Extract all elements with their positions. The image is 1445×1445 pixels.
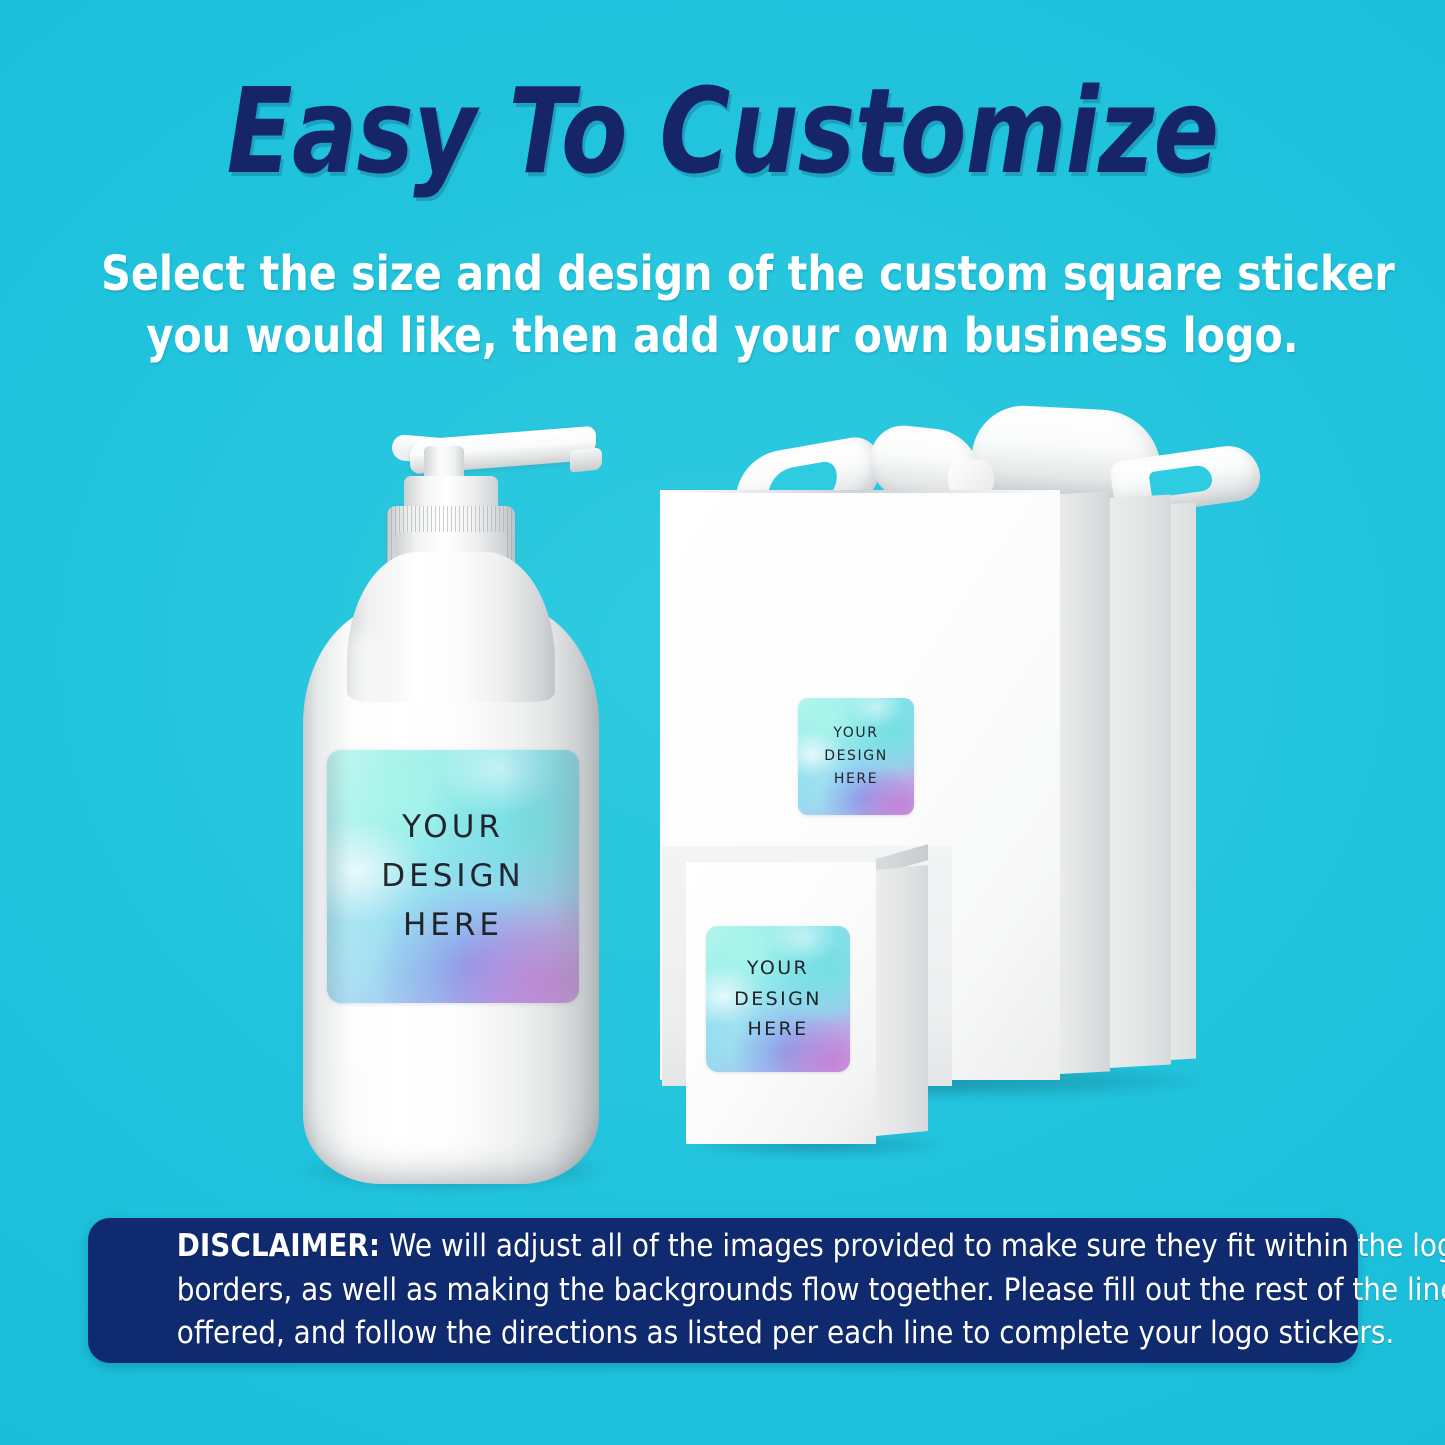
pump-nozzle-tip [570,447,602,472]
disclaimer-line-1-rest: We will adjust all of the images provide… [380,1228,1445,1264]
sticker-small-line-2: DESIGN [824,745,888,768]
gift-box-side-panel-mid [1109,495,1171,1068]
promotional-poster: Easy To Customize Select the size and de… [0,0,1445,1445]
sticker-small-line-1: YOUR [833,722,878,745]
disclaimer-box: DISCLAIMER: We will adjust all of the im… [88,1218,1358,1363]
sticker-medium-on-small-box[interactable]: YOUR DESIGN HERE [706,926,850,1072]
disclaimer-label: DISCLAIMER: [176,1228,379,1264]
disclaimer-line-2: borders, as well as making the backgroun… [176,1269,1270,1312]
sticker-large-line-1: YOUR [402,803,504,852]
sticker-large-on-bottle[interactable]: YOUR DESIGN HERE [327,750,579,1003]
sticker-medium-line-1: YOUR [747,953,809,984]
sticker-small-on-gift-box[interactable]: YOUR DESIGN HERE [798,698,914,815]
disclaimer-line-3: offered, and follow the directions as li… [176,1312,1270,1355]
gift-box-lid-seam [660,490,1060,493]
sticker-medium-line-2: DESIGN [734,984,822,1015]
sticker-small-line-3: HERE [834,768,878,791]
sticker-small-text: YOUR DESIGN HERE [798,698,914,815]
small-product-box: YOUR DESIGN HERE [686,858,944,1148]
sticker-medium-line-3: HERE [747,1014,808,1045]
sticker-large-text: YOUR DESIGN HERE [327,750,579,1003]
sticker-large-line-3: HERE [403,901,503,950]
gift-box-side-panel-front [1060,491,1110,1074]
disclaimer-line-1: DISCLAIMER: We will adjust all of the im… [176,1225,1270,1268]
sticker-medium-text: YOUR DESIGN HERE [706,926,850,1072]
disclaimer-text: DISCLAIMER: We will adjust all of the im… [176,1225,1270,1355]
sticker-large-line-2: DESIGN [381,852,525,901]
pump-bottle: YOUR DESIGN HERE [292,424,612,1184]
small-box-side-face [876,865,928,1136]
gift-box-side-panel-back [1170,502,1196,1060]
